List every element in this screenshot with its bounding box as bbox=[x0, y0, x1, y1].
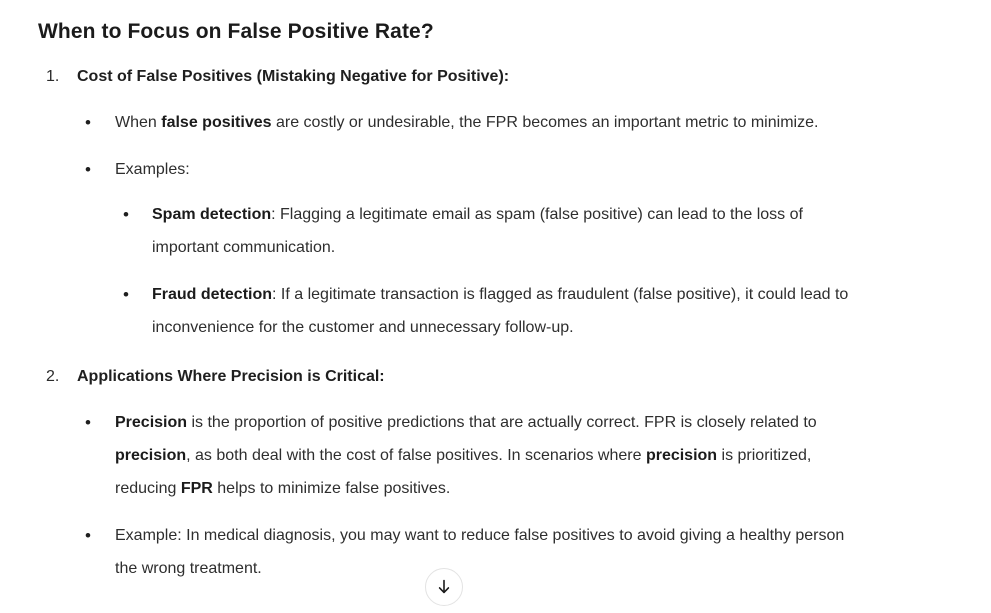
sub-bullet-text: Fraud detection: If a legitimate transac… bbox=[152, 278, 867, 344]
bullet-marker-icon: • bbox=[85, 153, 95, 186]
sub-bullet-list-item: •Fraud detection: If a legitimate transa… bbox=[115, 278, 991, 344]
body-text: , as both deal with the cost of false po… bbox=[186, 447, 646, 464]
bullet-list-item: •When false positives are costly or unde… bbox=[77, 106, 991, 139]
emphasis-text: Precision bbox=[115, 414, 187, 431]
bullet-list-item: •Example: In medical diagnosis, you may … bbox=[77, 519, 991, 585]
numbered-list-item: 1.Cost of False Positives (Mistaking Neg… bbox=[0, 62, 991, 344]
numbered-item-heading: Cost of False Positives (Mistaking Negat… bbox=[77, 62, 991, 92]
emphasis-text: FPR bbox=[181, 480, 213, 497]
bullet-list-item: •Examples:•Spam detection: Flagging a le… bbox=[77, 153, 991, 344]
scroll-down-button[interactable] bbox=[425, 568, 463, 606]
emphasis-text: Fraud detection bbox=[152, 286, 272, 303]
bullet-list: •Precision is the proportion of positive… bbox=[77, 406, 991, 585]
bullet-text: When false positives are costly or undes… bbox=[115, 106, 860, 139]
bullet-marker-icon: • bbox=[123, 278, 133, 311]
body-text: is the proportion of positive prediction… bbox=[187, 414, 817, 431]
numbered-item-heading: Applications Where Precision is Critical… bbox=[77, 362, 991, 392]
bullet-marker-icon: • bbox=[85, 106, 95, 139]
emphasis-text: precision bbox=[115, 447, 186, 464]
bullet-text: Example: In medical diagnosis, you may w… bbox=[115, 519, 860, 585]
sub-bullet-text: Spam detection: Flagging a legitimate em… bbox=[152, 198, 867, 264]
body-text: Examples: bbox=[115, 161, 190, 178]
numbered-list-item: 2.Applications Where Precision is Critic… bbox=[0, 362, 991, 585]
list-marker-number: 1. bbox=[46, 62, 70, 92]
page-title: When to Focus on False Positive Rate? bbox=[38, 18, 434, 46]
body-text: are costly or undesirable, the FPR becom… bbox=[272, 114, 819, 131]
emphasis-text: Spam detection bbox=[152, 206, 271, 223]
bullet-marker-icon: • bbox=[85, 519, 95, 552]
body-text: helps to minimize false positives. bbox=[213, 480, 450, 497]
list-marker-number: 2. bbox=[46, 362, 70, 392]
document-body: When to Focus on False Positive Rate? 1.… bbox=[0, 0, 991, 613]
body-text: When bbox=[115, 114, 161, 131]
emphasis-text: false positives bbox=[161, 114, 271, 131]
sub-bullet-list-item: •Spam detection: Flagging a legitimate e… bbox=[115, 198, 991, 264]
emphasis-text: precision bbox=[646, 447, 717, 464]
bullet-list: •When false positives are costly or unde… bbox=[77, 106, 991, 344]
body-text: Example: In medical diagnosis, you may w… bbox=[115, 527, 844, 577]
bullet-marker-icon: • bbox=[123, 198, 133, 231]
bullet-text: Examples: bbox=[115, 153, 860, 186]
bullet-text: Precision is the proportion of positive … bbox=[115, 406, 860, 505]
bullet-list-item: •Precision is the proportion of positive… bbox=[77, 406, 991, 505]
arrow-down-icon bbox=[435, 578, 453, 596]
outline-list: 1.Cost of False Positives (Mistaking Neg… bbox=[0, 62, 991, 585]
bullet-marker-icon: • bbox=[85, 406, 95, 439]
sub-bullet-list: •Spam detection: Flagging a legitimate e… bbox=[115, 198, 991, 344]
section-spacer bbox=[0, 344, 991, 362]
